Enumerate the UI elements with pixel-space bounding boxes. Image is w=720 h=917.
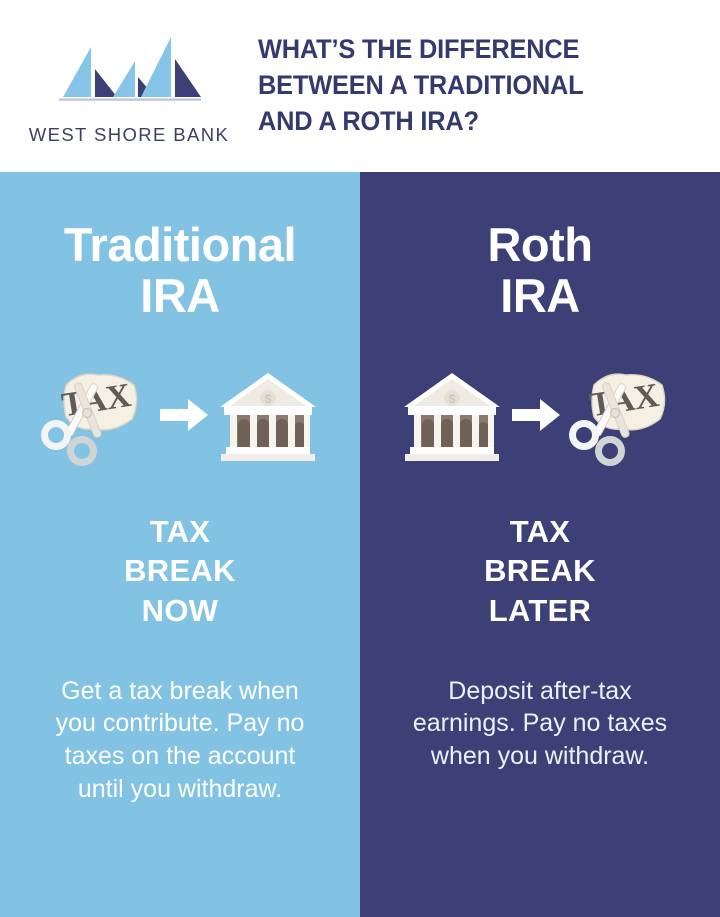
title-line-2: BETWEEN A TRADITIONAL (258, 68, 668, 104)
heading-line-2: IRA (64, 271, 296, 322)
panel-roth-heading: Roth IRA (487, 220, 592, 322)
title-line-3: AND A ROTH IRA? (258, 104, 668, 140)
sailboats-logo-icon (49, 33, 209, 117)
heading-line-2: IRA (487, 271, 592, 322)
tagline-line-3: LATER (484, 591, 596, 631)
heading-line-1: Traditional (64, 220, 296, 271)
tagline-line-2: BREAK (124, 551, 236, 591)
tagline-line-1: TAX (124, 512, 236, 552)
panel-traditional-tagline: TAX BREAK NOW (124, 512, 236, 631)
tagline-line-2: BREAK (484, 551, 596, 591)
title-line-1: WHAT’S THE DIFFERENCE (258, 32, 668, 68)
tax-scissors-icon: TAX (568, 363, 680, 467)
heading-line-1: Roth (487, 220, 592, 271)
panel-roth-tagline: TAX BREAK LATER (484, 512, 596, 631)
panel-traditional: Traditional IRA TAX (0, 172, 360, 917)
arrow-right-icon (156, 395, 212, 435)
bank-icon: $ (216, 363, 320, 467)
panel-roth: Roth IRA $ (360, 172, 720, 917)
panel-roth-blurb: Deposit after-tax earnings. Pay no taxes… (411, 675, 669, 773)
panel-traditional-icon-row: TAX $ (40, 360, 320, 470)
tagline-line-1: TAX (484, 512, 596, 552)
infographic-root: WEST SHORE BANK WHAT’S THE DIFFERENCE BE… (0, 0, 720, 917)
brand-name: WEST SHORE BANK (29, 124, 230, 146)
tagline-line-3: NOW (124, 591, 236, 631)
bank-icon: $ (400, 363, 504, 467)
svg-text:$: $ (449, 392, 456, 406)
header: WEST SHORE BANK WHAT’S THE DIFFERENCE BE… (0, 0, 720, 172)
page-title: WHAT’S THE DIFFERENCE BETWEEN A TRADITIO… (258, 32, 692, 140)
panel-roth-icon-row: $ (400, 360, 680, 470)
panel-traditional-blurb: Get a tax break when you contribute. Pay… (51, 675, 309, 806)
arrow-right-icon (508, 395, 564, 435)
panel-traditional-heading: Traditional IRA (64, 220, 296, 322)
tax-scissors-icon: TAX (40, 363, 152, 467)
brand-block: WEST SHORE BANK (0, 0, 258, 172)
comparison-panels: Traditional IRA TAX (0, 172, 720, 917)
svg-text:$: $ (265, 392, 272, 406)
